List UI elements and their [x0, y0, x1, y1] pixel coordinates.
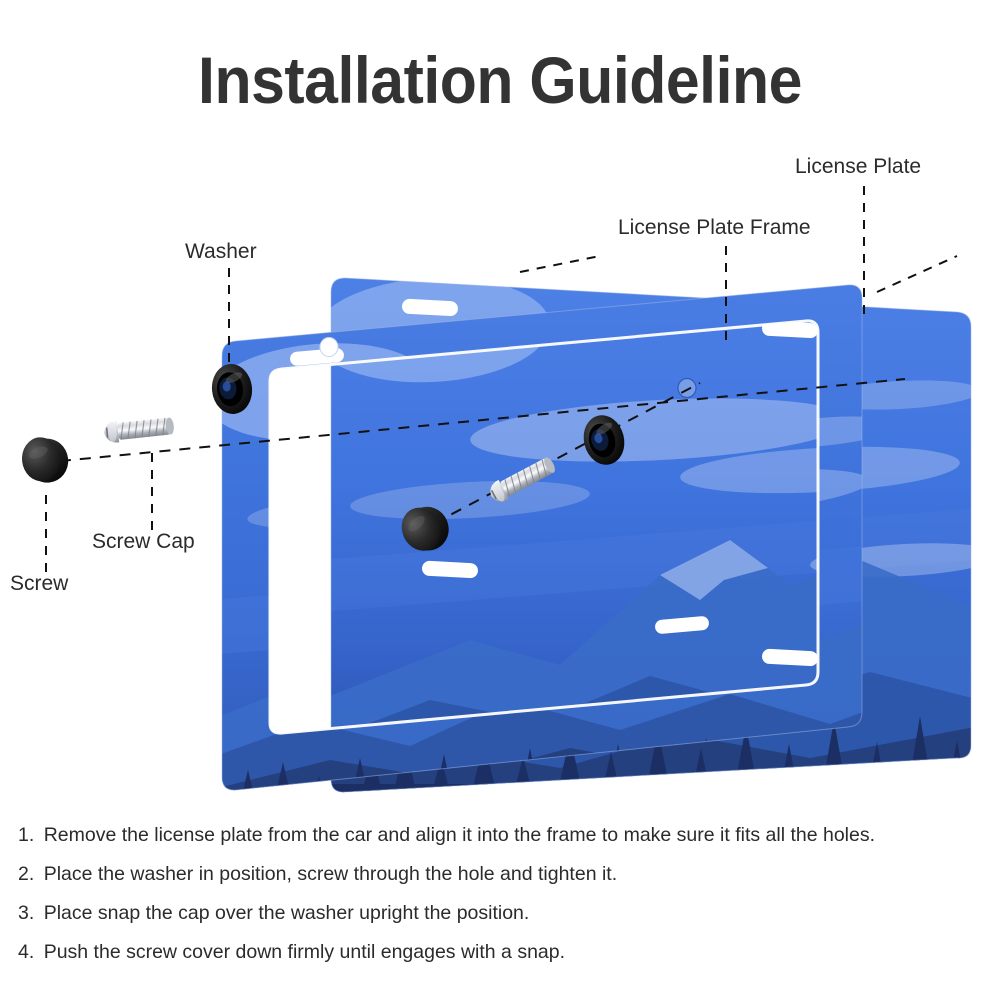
- installation-guideline-page: Installation Guideline: [0, 0, 1000, 1000]
- callout-washer: Washer: [185, 240, 257, 264]
- leader-frame-diagonal: [520, 256, 600, 272]
- license-plate-slot-top-left: [402, 299, 459, 317]
- callout-license-plate: License Plate: [795, 155, 921, 179]
- callout-license-plate-frame: License Plate Frame: [618, 216, 811, 240]
- callout-screw: Screw: [10, 572, 68, 596]
- callout-screw-cap: Screw Cap: [92, 530, 195, 554]
- instruction-number-2: 2.: [18, 863, 34, 885]
- instruction-text-3: Place snap the cap over the washer uprig…: [44, 902, 530, 924]
- instruction-item-1: 1. Remove the license plate from the car…: [18, 824, 988, 847]
- instruction-list: 1. Remove the license plate from the car…: [18, 824, 988, 980]
- frame-screw-hole-right: [678, 379, 696, 398]
- instruction-text-4: Push the screw cover down firmly until e…: [44, 941, 565, 963]
- instruction-number-4: 4.: [18, 941, 34, 963]
- instruction-number-1: 1.: [18, 824, 34, 846]
- screw-cap-part-1: [20, 435, 71, 486]
- leader-license-plate-diagonal: [877, 256, 957, 292]
- instruction-text-2: Place the washer in position, screw thro…: [44, 863, 617, 885]
- instruction-number-3: 3.: [18, 902, 34, 924]
- instruction-item-4: 4. Push the screw cover down firmly unti…: [18, 941, 988, 964]
- frame-screw-hole-left: [320, 338, 338, 357]
- instruction-item-2: 2. Place the washer in position, screw t…: [18, 863, 988, 886]
- instruction-text-1: Remove the license plate from the car an…: [44, 824, 875, 846]
- instruction-item-3: 3. Place snap the cap over the washer up…: [18, 902, 988, 925]
- screw-part-1: [103, 415, 175, 444]
